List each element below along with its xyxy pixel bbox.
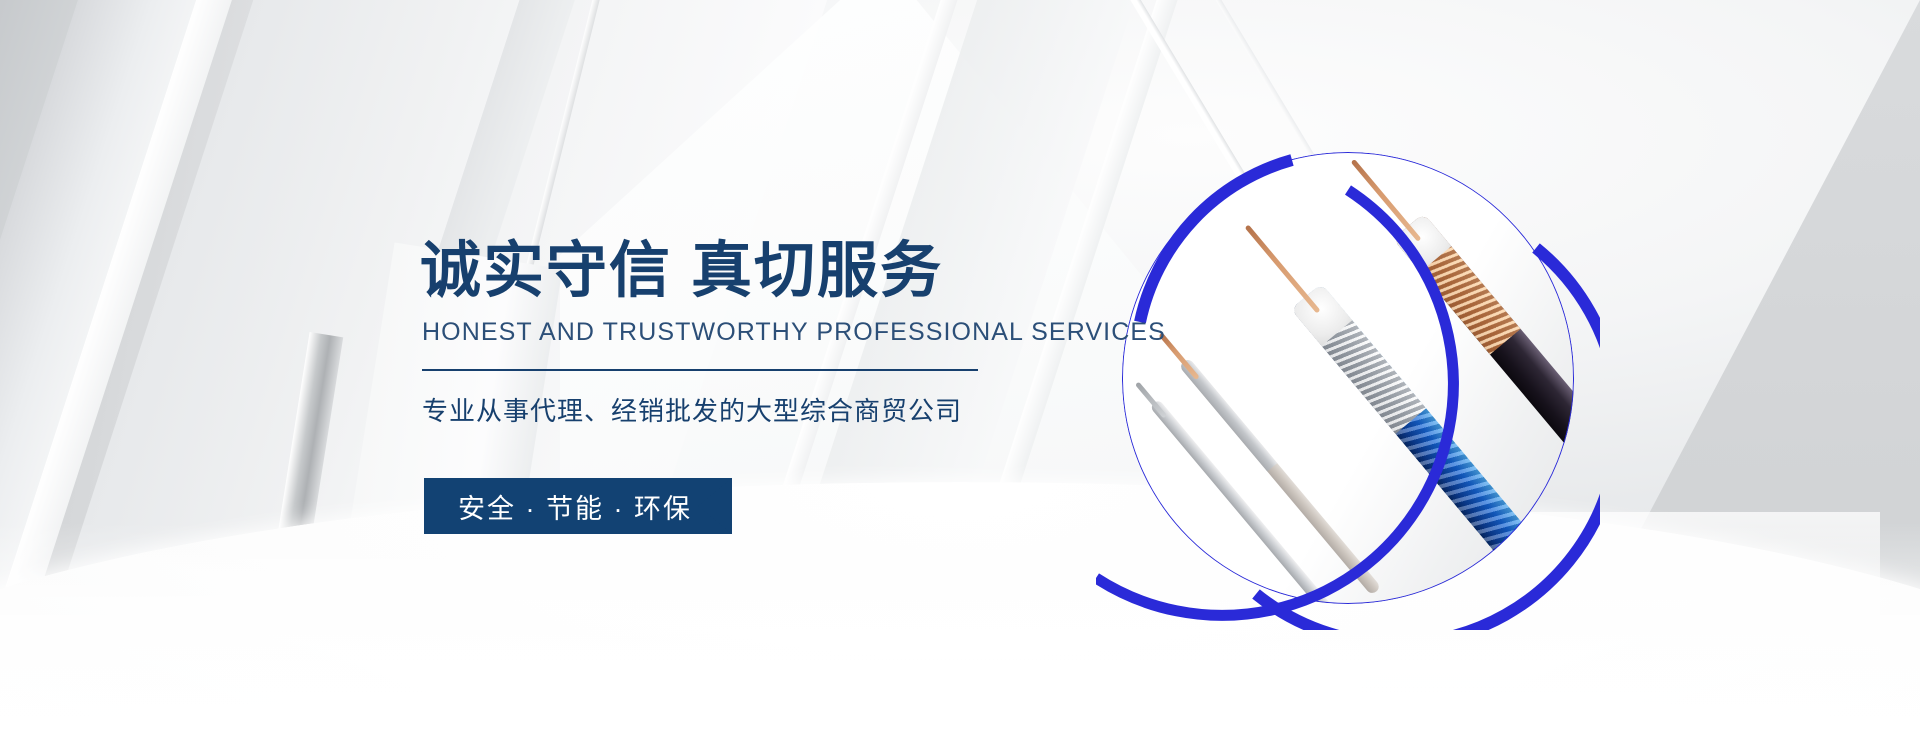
hero-banner: ∧∣∣∨—∣∧—∣∨— 诚实守信 真切服务 HONEST AND TRUSTWO… — [0, 0, 1920, 752]
product-medallion: ∧∣∣∨—∣∧—∣∨— — [1122, 152, 1574, 604]
slogan-ribbon: 安全 · 节能 · 环保 — [424, 478, 732, 534]
divider-rule — [422, 369, 978, 371]
medallion-accent-arc-left — [1096, 126, 1600, 630]
background-floor-glow — [0, 522, 1920, 752]
ribbon-label: 安全 · 节能 · 环保 — [424, 487, 692, 526]
description-chinese: 专业从事代理、经销批发的大型综合商贸公司 — [422, 391, 1020, 428]
page-title: 诚实守信 真切服务 — [420, 236, 1020, 304]
subtitle-english: HONEST AND TRUSTWORTHY PROFESSIONAL SERV… — [422, 318, 1020, 347]
hero-text-block: 诚实守信 真切服务 HONEST AND TRUSTWORTHY PROFESS… — [420, 236, 1020, 428]
